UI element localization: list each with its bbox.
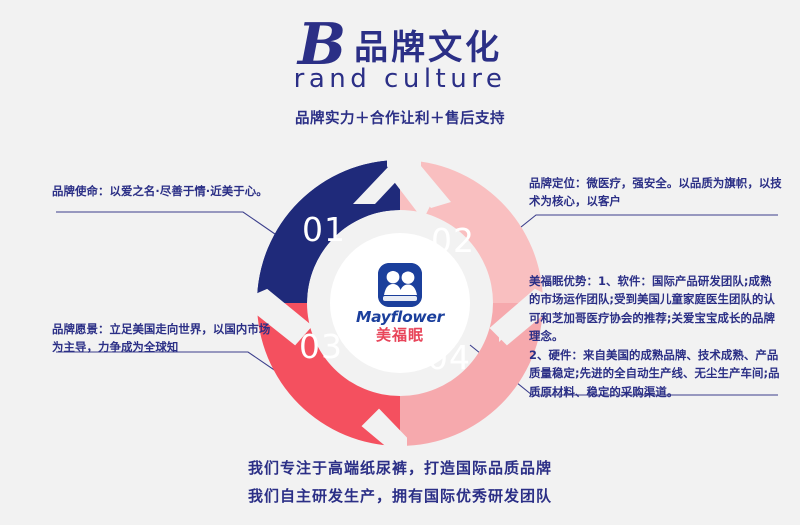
callout-advantage-label: 美福眠优势 <box>529 274 586 288</box>
logo-chinese: 美福眠 <box>376 328 424 343</box>
logo-wordmark: Mayflower <box>356 310 444 326</box>
center-logo: Mayflower 美福眠 <box>337 240 463 366</box>
callout-brand-mission: 品牌使命：以爱之名·尽善于情·近美于心。 <box>52 182 272 200</box>
donut-chart: 01 02 03 04 <box>255 158 545 448</box>
callout-position-label: 品牌定位 <box>529 176 575 190</box>
page-title: 品牌文化 <box>354 31 502 65</box>
callout-brand-vision: 品牌愿景：立足美国走向世界，以国内市场为主导，力争成为全球知 <box>52 320 272 357</box>
callout-brand-advantage: 美福眠优势：1、软件：国际产品研发团队;成熟的市场运作团队;受到美国儿童家庭医生… <box>529 272 782 401</box>
callout-mission-text: ：以爱之名·尽善于情·近美于心。 <box>98 184 268 198</box>
two-children-icon <box>378 263 422 307</box>
footer: 我们专注于高端纸尿裤，打造国际品质品牌 我们自主研发生产，拥有国际优秀研发团队 <box>0 455 800 511</box>
callout-brand-position: 品牌定位：微医疗，强安全。以品质为旗帜，以技术为核心，以客户 <box>529 174 782 211</box>
header-subtitle: 品牌实力＋合作让利＋售后支持 <box>0 107 800 128</box>
header: B 品牌文化 rand culture 品牌实力＋合作让利＋售后支持 <box>0 18 800 128</box>
callout-vision-label: 品牌愿景 <box>52 322 98 336</box>
callout-advantage-text2: 2、硬件：来自美国的成熟品牌、技术成熟、产品质量稳定;先进的全自动生产线、无尘生… <box>529 346 782 401</box>
callout-mission-label: 品牌使命 <box>52 184 98 198</box>
footer-line-2: 我们自主研发生产，拥有国际优秀研发团队 <box>0 483 800 511</box>
page-title-en: rand culture <box>0 64 800 94</box>
poster-canvas: B 品牌文化 rand culture 品牌实力＋合作让利＋售后支持 <box>0 0 800 525</box>
footer-line-1: 我们专注于高端纸尿裤，打造国际品质品牌 <box>0 455 800 483</box>
b-monogram-icon: B <box>298 16 346 73</box>
